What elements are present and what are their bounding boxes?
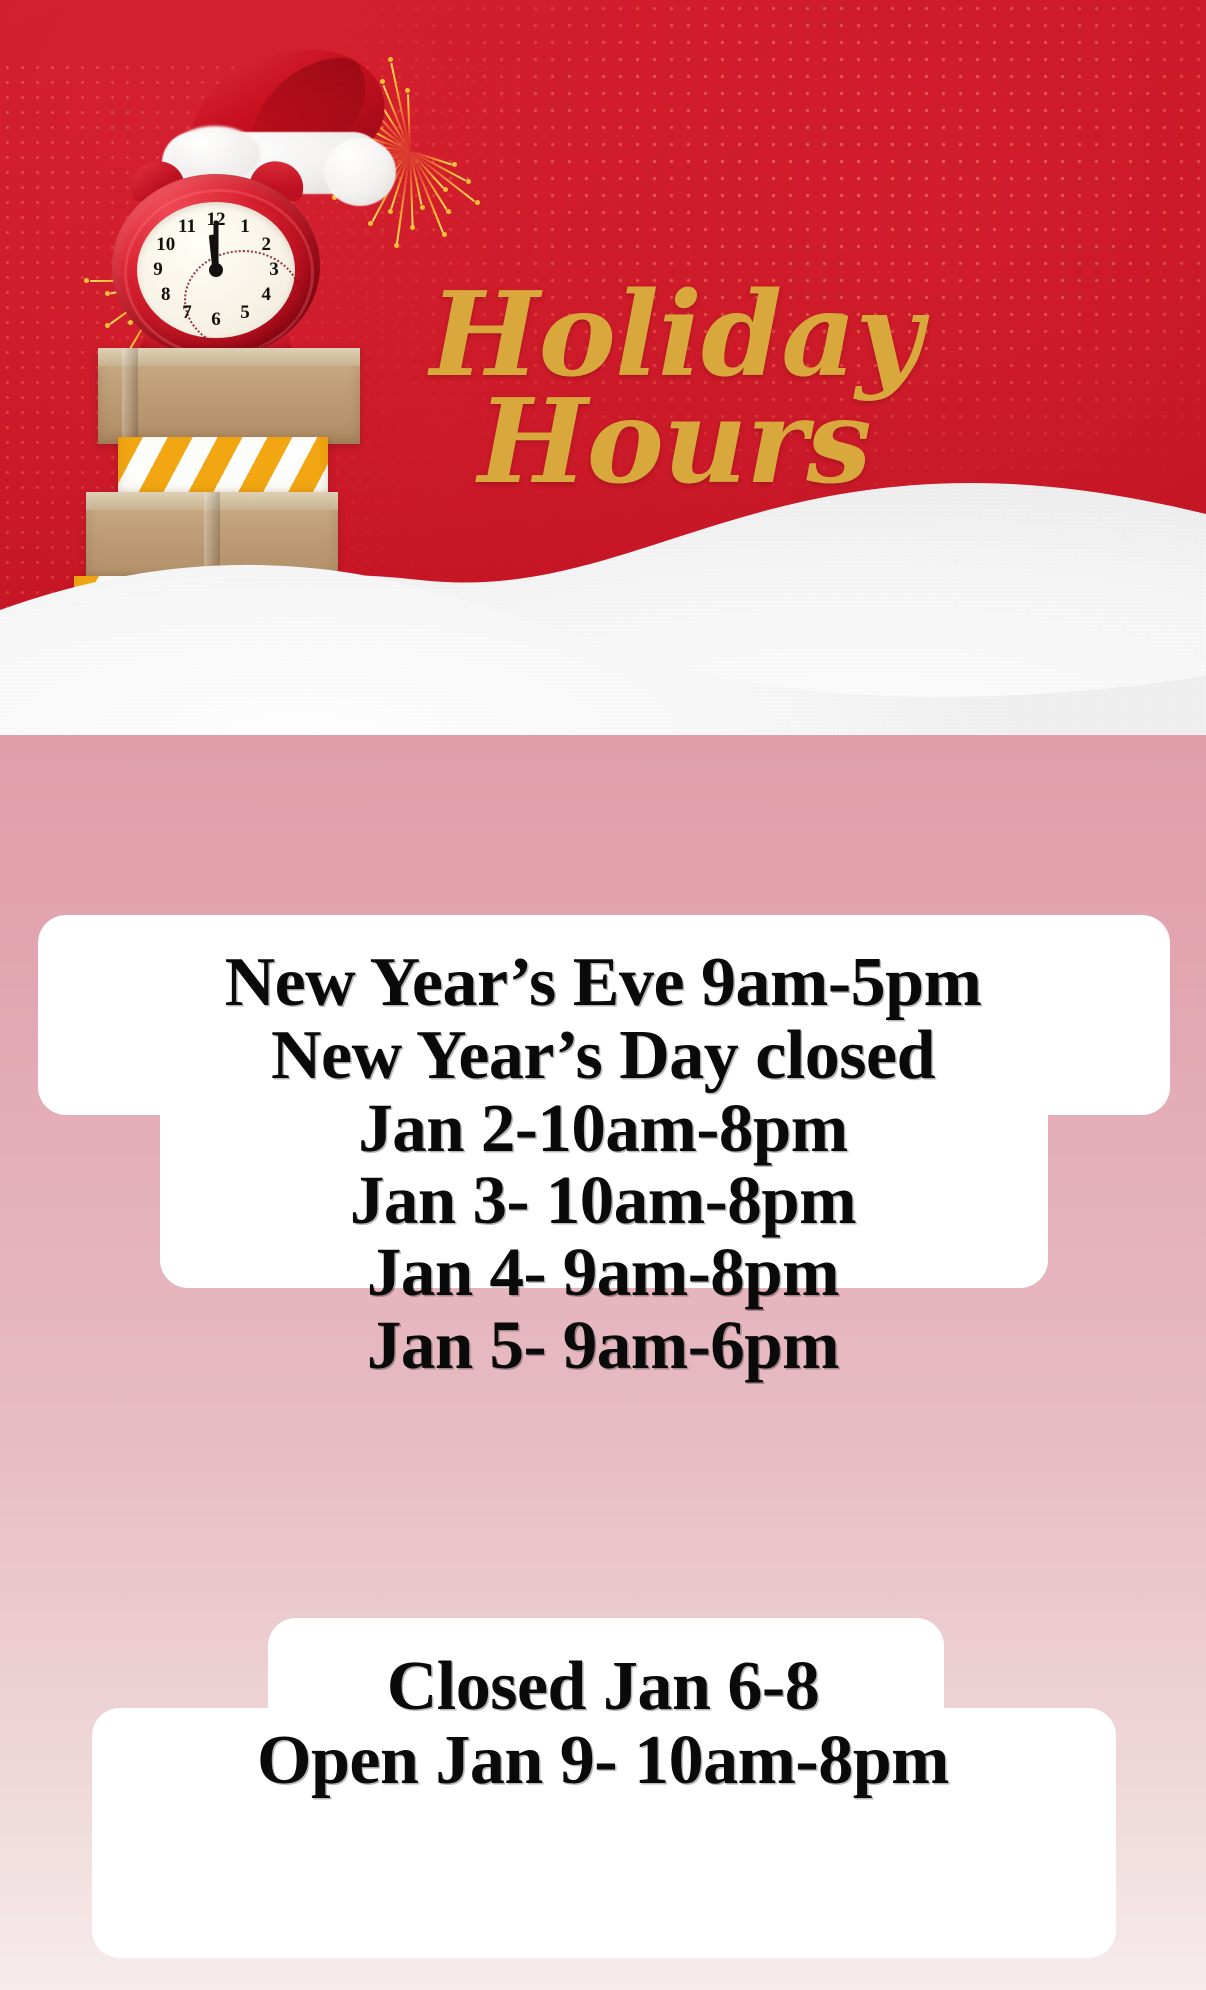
hours-line: New Year’s Day closed [0,1019,1206,1092]
holiday-hours-poster: 121234567891011 Holiday Hours [0,0,1206,1990]
hours-list-secondary: Closed Jan 6-8 Open Jan 9- 10am-8pm [0,1650,1206,1797]
hours-line: Jan 4- 9am-8pm [0,1236,1206,1308]
hours-line: Open Jan 9- 10am-8pm [0,1724,1206,1798]
hours-line: Jan 2-10am-8pm [0,1092,1206,1164]
hours-line: Jan 5- 9am-6pm [0,1309,1206,1381]
hours-line: Closed Jan 6-8 [0,1650,1206,1724]
hours-line: New Year’s Eve 9am-5pm [0,946,1206,1019]
hours-list-primary: New Year’s Eve 9am-5pm New Year’s Day cl… [0,946,1206,1381]
hours-line: Jan 3- 10am-8pm [0,1164,1206,1236]
